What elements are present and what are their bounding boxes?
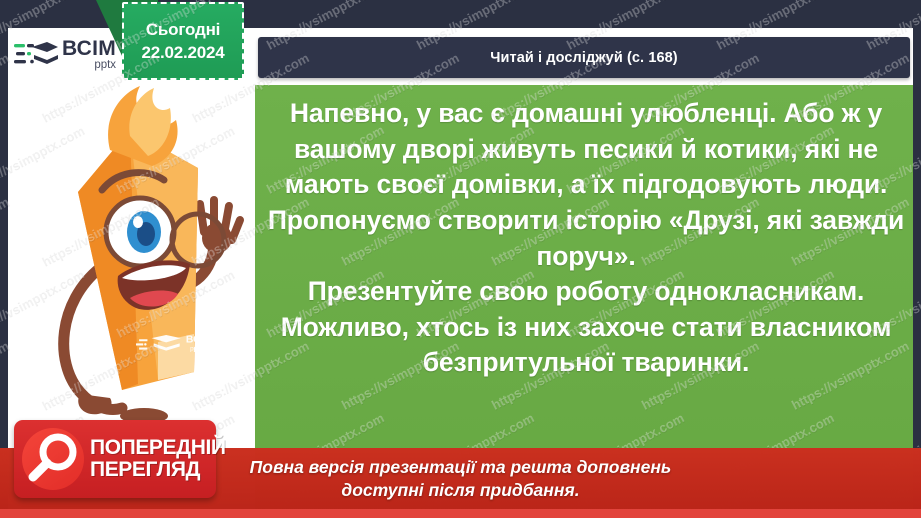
date-badge-label: Сьогодні xyxy=(146,20,220,40)
body-paragraph-1: Напевно, у вас є домашні улюбленці. Або … xyxy=(262,96,910,203)
date-badge: Сьогодні 22.02.2024 xyxy=(122,2,244,80)
body-text: Напевно, у вас є домашні улюбленці. Або … xyxy=(262,96,910,381)
section-header-bar: Читай і досліджуй (с. 168) xyxy=(258,37,910,78)
body-paragraph-2: Пропонуємо створити історію «Друзі, які … xyxy=(262,203,910,274)
brand-logo: ВСІМ pptx xyxy=(14,33,126,77)
body-paragraph-3: Презентуйте свою роботу однокласникам. М… xyxy=(262,274,910,381)
date-badge-value: 22.02.2024 xyxy=(141,43,224,63)
pencil-mascot: ВСІМ pptx xyxy=(18,72,246,432)
svg-text:pptx: pptx xyxy=(190,346,203,353)
logo-name: ВСІМ xyxy=(62,38,116,59)
purchase-notice-line-1: Повна версія презентації та решта доповн… xyxy=(250,457,672,478)
purchase-notice-line-2: доступні після придбання. xyxy=(341,480,579,501)
svg-text:ВСІМ: ВСІМ xyxy=(186,334,212,345)
preview-badge-line-2: ПЕРЕГЛЯД xyxy=(90,459,226,481)
page-title: Читай і досліджуй (с. 168) xyxy=(490,50,678,66)
slide-root: ВСІМ pptx ВСІМ pptx xyxy=(0,0,921,518)
preview-badge[interactable]: ПОПЕРЕДНІЙ ПЕРЕГЛЯД xyxy=(14,420,216,498)
preview-badge-line-1: ПОПЕРЕДНІЙ xyxy=(90,437,226,459)
graduation-cap-icon xyxy=(14,36,58,74)
magnifier-icon xyxy=(22,428,84,490)
bottom-accent-stripe xyxy=(0,509,921,518)
logo-suffix: pptx xyxy=(62,60,116,72)
